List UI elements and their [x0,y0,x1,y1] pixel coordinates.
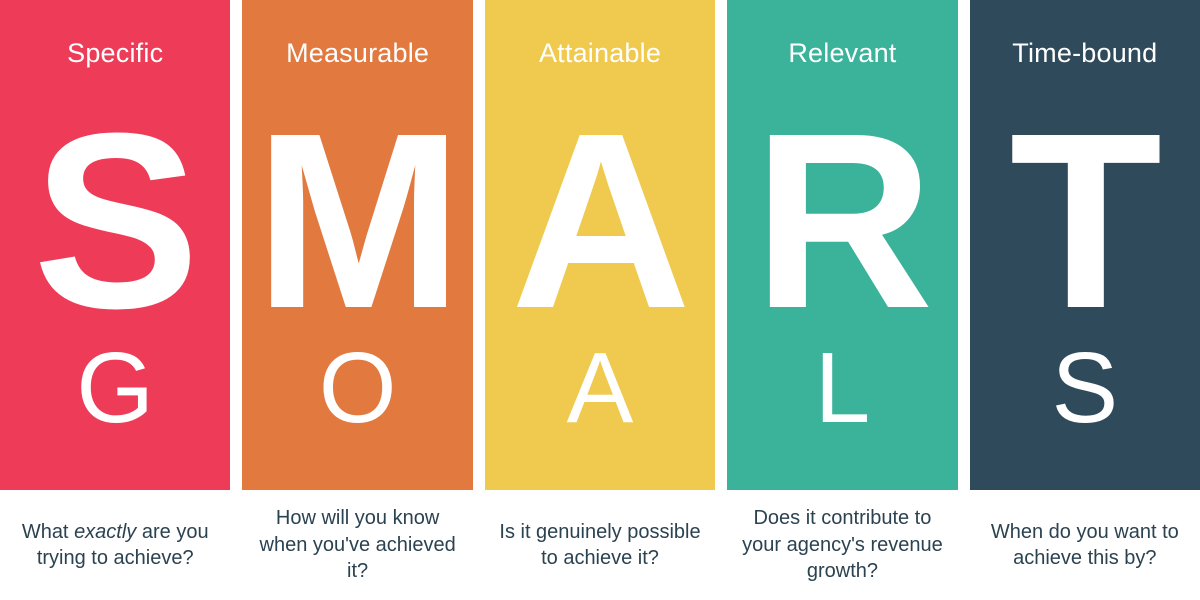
column-header-attainable: Attainable [539,40,661,67]
caption-specific: What exactly are you trying to achieve? [0,490,230,600]
caption-emphasis-specific: exactly [74,521,136,543]
goals-letter-o: O [242,338,472,438]
goals-letter-l: L [727,338,957,438]
caption-attainable: Is it genuinely possible to achieve it? [485,490,715,600]
goals-letter-g: G [0,338,230,438]
caption-text-attainable: Is it genuinely possible to achieve it? [495,519,705,572]
color-band-row: Specific S G Measurable M O Attainable A… [0,0,1200,490]
caption-text-measurable: How will you know when you've achieved i… [252,505,462,584]
caption-text-specific: What exactly are you trying to achieve? [10,519,220,572]
column-header-specific: Specific [67,40,163,67]
caption-relevant: Does it contribute to your agency's reve… [727,490,957,600]
goals-letter-a: A [485,338,715,438]
caption-text-relevant: Does it contribute to your agency's reve… [737,505,947,584]
caption-measurable: How will you know when you've achieved i… [242,490,472,600]
caption-time-bound: When do you want to achieve this by? [970,490,1200,600]
acronym-letter-a: A [485,96,715,346]
caption-prefix-specific: What [22,521,74,543]
column-header-time-bound: Time-bound [1012,40,1157,67]
acronym-letter-r: R [727,96,957,346]
column-header-relevant: Relevant [788,40,896,67]
column-specific: Specific S G [0,0,230,490]
column-relevant: Relevant R L [727,0,957,490]
column-header-measurable: Measurable [286,40,429,67]
column-measurable: Measurable M O [242,0,472,490]
acronym-letter-t: T [970,96,1200,346]
acronym-letter-m: M [242,96,472,346]
column-attainable: Attainable A A [485,0,715,490]
acronym-letter-s: S [0,96,230,346]
smart-goals-infographic: Specific S G Measurable M O Attainable A… [0,0,1200,600]
goals-letter-s: S [970,338,1200,438]
column-time-bound: Time-bound T S [970,0,1200,490]
caption-row: What exactly are you trying to achieve? … [0,490,1200,600]
caption-text-time-bound: When do you want to achieve this by? [980,519,1190,572]
